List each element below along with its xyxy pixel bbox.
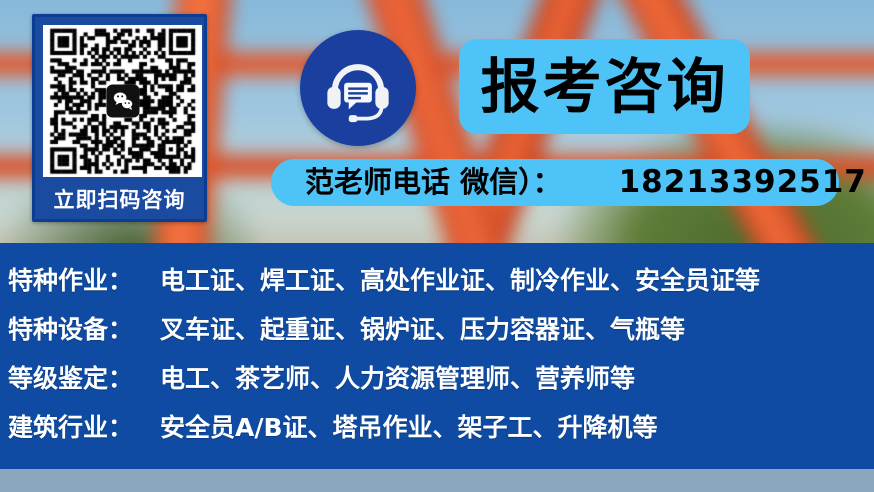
contact-phone-label: 范老师电话 微信）： xyxy=(305,168,562,197)
category-label: 建筑行业： xyxy=(8,408,160,444)
headset-badge xyxy=(300,30,416,146)
wechat-icon xyxy=(106,85,139,118)
consult-registration-button[interactable]: 报考咨询 xyxy=(459,39,750,134)
category-value: 叉车证、起重证、锅炉证、压力容器证、气瓶等 xyxy=(160,310,685,346)
category-value: 电工、茶艺师、人力资源管理师、营养师等 xyxy=(160,359,635,395)
category-row-special-operations: 特种作业： 电工证、焊工证、高处作业证、制冷作业、安全员证等 xyxy=(0,261,874,310)
bottom-photo-strip xyxy=(0,469,874,492)
certificate-categories-panel: 特种作业： 电工证、焊工证、高处作业证、制冷作业、安全员证等 特种设备： 叉车证… xyxy=(0,243,874,469)
category-label: 等级鉴定： xyxy=(8,359,160,395)
category-row-grade-appraisal: 等级鉴定： 电工、茶艺师、人力资源管理师、营养师等 xyxy=(0,359,874,408)
category-label: 特种作业： xyxy=(8,261,160,297)
category-label: 特种设备： xyxy=(8,310,160,346)
qr-code-card[interactable]: 立即扫码咨询 xyxy=(32,14,207,222)
category-value: 电工证、焊工证、高处作业证、制冷作业、安全员证等 xyxy=(160,261,760,297)
category-row-special-equipment: 特种设备： 叉车证、起重证、锅炉证、压力容器证、气瓶等 xyxy=(0,310,874,359)
headset-chat-icon xyxy=(321,51,395,125)
contact-phone-pill[interactable]: 范老师电话 微信）： 18213392517 xyxy=(271,159,839,206)
consult-registration-label: 报考咨询 xyxy=(480,57,728,116)
category-row-construction-industry: 建筑行业： 安全员A/B证、塔吊作业、架子工、升降机等 xyxy=(0,408,874,457)
qr-code-image[interactable] xyxy=(43,25,202,177)
background-photo-worksite xyxy=(0,469,874,492)
advertisement-banner: 立即扫码咨询 报考咨询 范老师电话 微信）： 18213392517 xyxy=(0,0,874,492)
category-value: 安全员A/B证、塔吊作业、架子工、升降机等 xyxy=(160,408,658,444)
contact-phone-number[interactable]: 18213392517 xyxy=(619,167,867,198)
qr-card-caption: 立即扫码咨询 xyxy=(35,184,204,214)
